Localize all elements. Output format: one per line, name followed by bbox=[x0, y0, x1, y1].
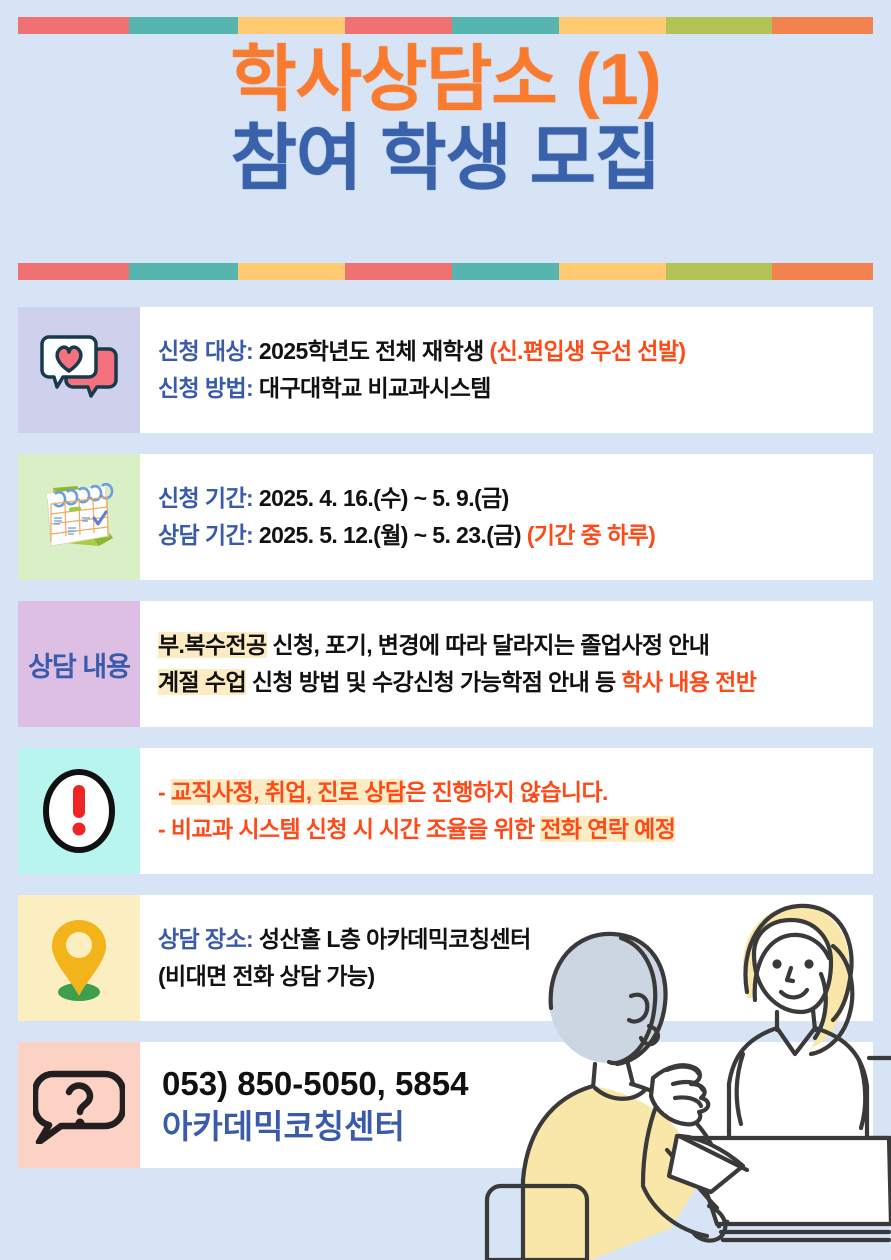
stripe-segment-1 bbox=[18, 263, 129, 280]
row-target-value-1: 2025학년도 전체 재학생 bbox=[253, 338, 489, 364]
stripe-segment-7 bbox=[666, 17, 771, 34]
row-place-value-1: 성산홀 L층 아카데믹코칭센터 bbox=[253, 926, 531, 952]
stripe-segment-4 bbox=[345, 17, 452, 34]
row-period-line-2: 상담 기간: 2025. 5. 12.(월) ~ 5. 23.(금) (기간 중… bbox=[158, 517, 873, 554]
row-period-note-2: (기간 중 하루) bbox=[527, 522, 656, 548]
stripe-segment-7 bbox=[666, 263, 771, 280]
row-target-body: 신청 대상: 2025학년도 전체 재학생 (신.편입생 우선 선발) 신청 방… bbox=[140, 307, 873, 433]
row-content-value-1: 신청, 포기, 변경에 따라 달라지는 졸업사정 안내 bbox=[267, 632, 710, 658]
row-content-line-2: 계절 수업 신청 방법 및 수강신청 가능학점 안내 등 학사 내용 전반 bbox=[158, 664, 873, 701]
row-notice-note-2: 전화 연락 예정 bbox=[540, 816, 675, 842]
row-notice-highlight-1: 교직사정, 취업, 진로 상담 bbox=[171, 779, 406, 805]
row-notice-line-2: - 비교과 시스템 신청 시 시간 조율을 위한 전화 연락 예정 bbox=[158, 811, 873, 848]
row-notice-icon-box bbox=[18, 748, 140, 874]
row-content: 상담 내용 부.복수전공 신청, 포기, 변경에 따라 달라지는 졸업사정 안내… bbox=[18, 601, 873, 727]
stripe-segment-5 bbox=[452, 17, 559, 34]
row-contact-center-name: 아카데믹코칭센터 bbox=[162, 1105, 873, 1148]
row-target-value-2: 대구대학교 비교과시스템 bbox=[253, 375, 491, 401]
stripe-segment-6 bbox=[559, 17, 666, 34]
row-content-note-2: 학사 내용 전반 bbox=[621, 669, 756, 695]
row-notice-dash-2: - bbox=[158, 816, 171, 842]
title-line-1: 학사상담소 (1) bbox=[0, 44, 891, 117]
row-contact-phone: 053) 850-5050, 5854 bbox=[162, 1062, 873, 1105]
color-stripe-top bbox=[18, 17, 873, 34]
row-period-body: 신청 기간: 2025. 4. 16.(수) ~ 5. 9.(금) 상담 기간:… bbox=[140, 454, 873, 580]
row-place-label-1: 상담 장소: bbox=[158, 926, 253, 952]
row-target: 신청 대상: 2025학년도 전체 재학생 (신.편입생 우선 선발) 신청 방… bbox=[18, 307, 873, 433]
row-target-icon-box bbox=[18, 307, 140, 433]
row-notice: - 교직사정, 취업, 진로 상담은 진행하지 않습니다. - 비교과 시스템 … bbox=[18, 748, 873, 874]
row-contact: 053) 850-5050, 5854 아카데믹코칭센터 bbox=[18, 1042, 873, 1168]
map-pin-icon bbox=[44, 912, 114, 1004]
stripe-segment-4 bbox=[345, 263, 452, 280]
row-content-icon-box: 상담 내용 bbox=[18, 601, 140, 727]
stripe-segment-6 bbox=[559, 263, 666, 280]
info-rows: 신청 대상: 2025학년도 전체 재학생 (신.편입생 우선 선발) 신청 방… bbox=[18, 307, 873, 1189]
speech-bubble-heart-icon bbox=[37, 333, 121, 407]
row-content-body: 부.복수전공 신청, 포기, 변경에 따라 달라지는 졸업사정 안내 계절 수업… bbox=[140, 601, 873, 727]
desk-calendar-icon bbox=[31, 474, 127, 560]
row-target-line-2: 신청 방법: 대구대학교 비교과시스템 bbox=[158, 370, 873, 407]
stripe-segment-1 bbox=[18, 17, 129, 34]
row-target-label-1: 신청 대상: bbox=[158, 338, 253, 364]
color-stripe-bottom bbox=[18, 263, 873, 280]
row-period: 신청 기간: 2025. 4. 16.(수) ~ 5. 9.(금) 상담 기간:… bbox=[18, 454, 873, 580]
row-content-label: 상담 내용 bbox=[28, 645, 130, 684]
row-target-label-2: 신청 방법: bbox=[158, 375, 253, 401]
stripe-segment-8 bbox=[772, 17, 873, 34]
poster-title: 학사상담소 (1) 참여 학생 모집 bbox=[0, 44, 891, 197]
question-bubble-icon bbox=[33, 1066, 125, 1144]
row-content-value-2: 신청 방법 및 수강신청 가능학점 안내 등 bbox=[246, 669, 621, 695]
row-contact-icon-box bbox=[18, 1042, 140, 1168]
row-notice-line-1: - 교직사정, 취업, 진로 상담은 진행하지 않습니다. bbox=[158, 774, 873, 811]
row-place-line-1: 상담 장소: 성산홀 L층 아카데믹코칭센터 bbox=[158, 921, 873, 958]
row-notice-value-2: 비교과 시스템 신청 시 시간 조율을 위한 bbox=[171, 816, 541, 842]
row-place-body: 상담 장소: 성산홀 L층 아카데믹코칭센터 (비대면 전화 상담 가능) bbox=[140, 895, 873, 1021]
row-period-value-2: 2025. 5. 12.(월) ~ 5. 23.(금) bbox=[253, 522, 527, 548]
title-line-2: 참여 학생 모집 bbox=[0, 123, 891, 196]
row-content-highlight-1: 부.복수전공 bbox=[158, 632, 267, 658]
stripe-segment-2 bbox=[129, 263, 238, 280]
stripe-segment-3 bbox=[238, 263, 344, 280]
row-period-value-1: 2025. 4. 16.(수) ~ 5. 9.(금) bbox=[253, 485, 509, 511]
row-notice-value-1: 은 진행하지 않습니다. bbox=[405, 779, 607, 805]
row-period-label-2: 상담 기간: bbox=[158, 522, 253, 548]
row-target-line-1: 신청 대상: 2025학년도 전체 재학생 (신.편입생 우선 선발) bbox=[158, 333, 873, 370]
row-contact-body: 053) 850-5050, 5854 아카데믹코칭센터 bbox=[140, 1042, 873, 1168]
row-notice-dash-1: - bbox=[158, 779, 171, 805]
stripe-segment-5 bbox=[452, 263, 559, 280]
stripe-segment-8 bbox=[772, 263, 873, 280]
row-content-line-1: 부.복수전공 신청, 포기, 변경에 따라 달라지는 졸업사정 안내 bbox=[158, 627, 873, 664]
row-period-label-1: 신청 기간: bbox=[158, 485, 253, 511]
row-notice-body: - 교직사정, 취업, 진로 상담은 진행하지 않습니다. - 비교과 시스템 … bbox=[140, 748, 873, 874]
row-period-icon-box bbox=[18, 454, 140, 580]
row-place: 상담 장소: 성산홀 L층 아카데믹코칭센터 (비대면 전화 상담 가능) bbox=[18, 895, 873, 1021]
row-period-line-1: 신청 기간: 2025. 4. 16.(수) ~ 5. 9.(금) bbox=[158, 480, 873, 517]
row-target-note-1: (신.편입생 우선 선발) bbox=[490, 338, 686, 364]
exclamation-circle-icon bbox=[40, 767, 118, 855]
row-place-value-2: (비대면 전화 상담 가능) bbox=[158, 963, 375, 989]
stripe-segment-3 bbox=[238, 17, 344, 34]
row-place-icon-box bbox=[18, 895, 140, 1021]
row-content-highlight-2: 계절 수업 bbox=[158, 669, 246, 695]
row-place-line-2: (비대면 전화 상담 가능) bbox=[158, 958, 873, 995]
stripe-segment-2 bbox=[129, 17, 238, 34]
